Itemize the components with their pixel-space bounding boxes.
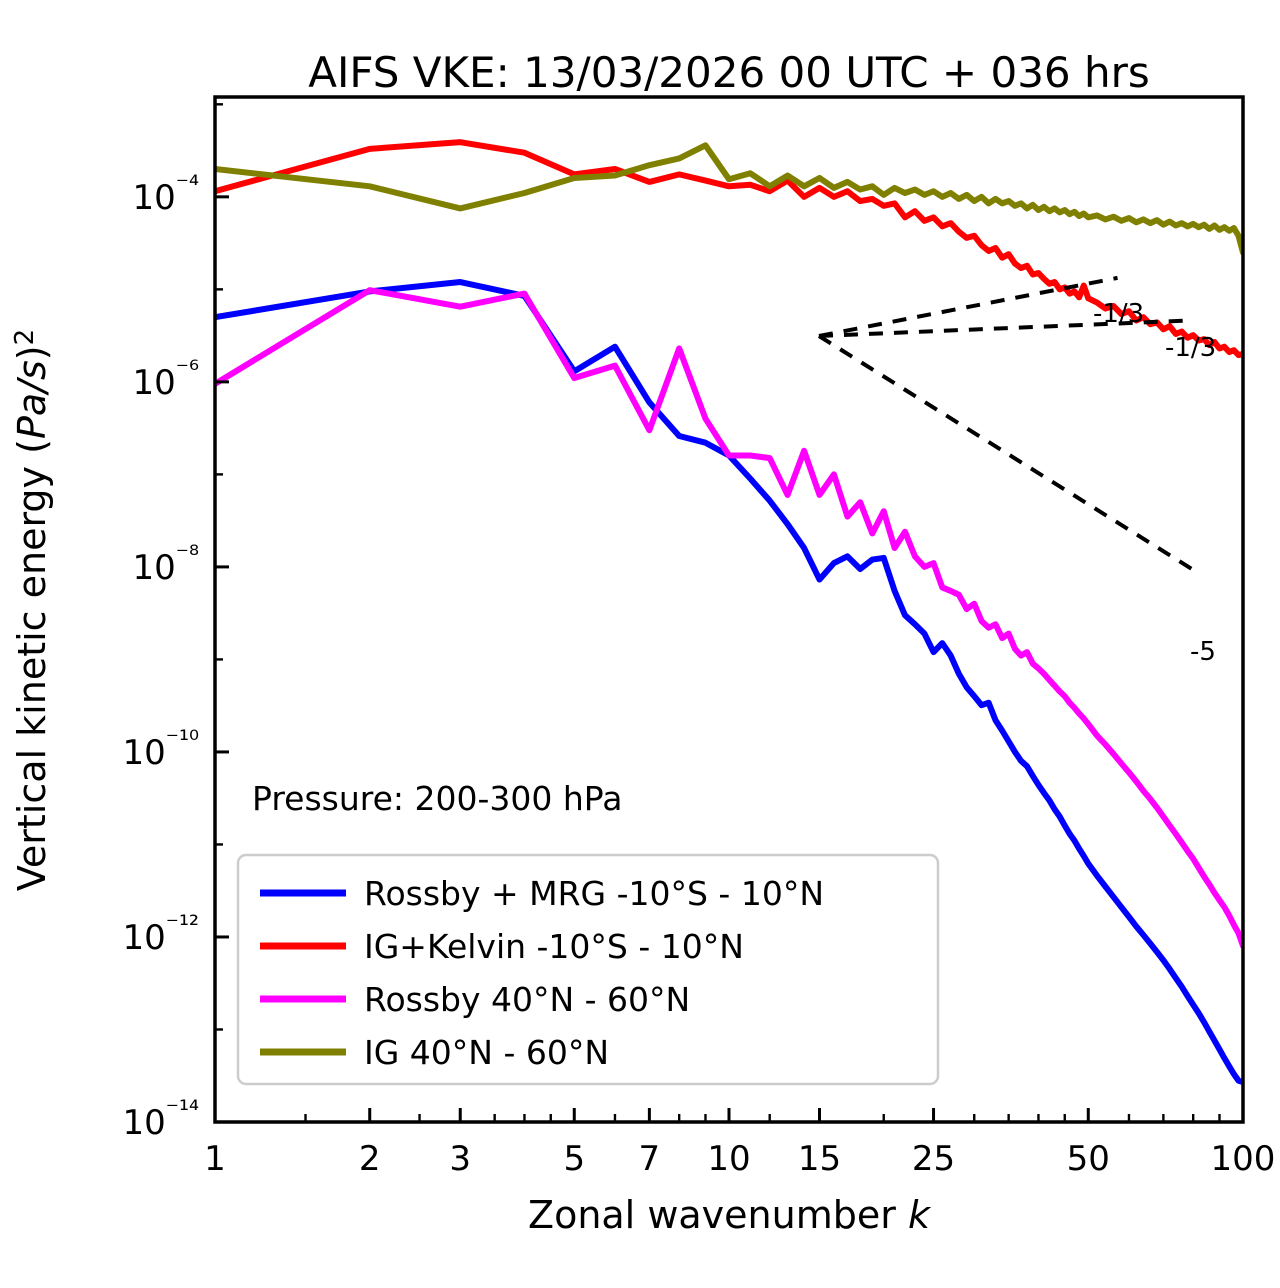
x-tick-label-10: 10 (707, 1139, 750, 1179)
legend-label-1[interactable]: IG+Kelvin -10°S - 10°N (364, 927, 744, 966)
svg-text:Vertical kinetic energy (Pa/s): Vertical kinetic energy (Pa/s)2 (10, 329, 54, 891)
x-axis-label: Zonal wavenumber k (528, 1193, 932, 1237)
x-tick-label-7: 7 (639, 1139, 661, 1179)
slope-label-minus5: -5 (1190, 637, 1216, 667)
x-tick-label-25: 25 (912, 1139, 955, 1179)
chart-legend[interactable]: Rossby + MRG -10°S - 10°NIG+Kelvin -10°S… (238, 855, 938, 1084)
chart-figure: AIFS VKE: 13/03/2026 00 UTC + 036 hrs Ve… (0, 0, 1280, 1288)
legend-label-2[interactable]: Rossby 40°N - 60°N (364, 980, 690, 1019)
x-tick-label-2: 2 (359, 1139, 381, 1179)
x-tick-label-1: 1 (204, 1139, 226, 1179)
slope-label-upper: -1/3 (1093, 299, 1144, 329)
y-axis-label: Vertical kinetic energy (Pa/s)2 (10, 329, 54, 891)
slope-label-lower: -1/3 (1165, 333, 1216, 363)
x-tick-label-15: 15 (798, 1139, 841, 1179)
legend-label-0[interactable]: Rossby + MRG -10°S - 10°N (364, 874, 824, 913)
x-tick-label-100: 100 (1211, 1139, 1276, 1179)
chart-title: AIFS VKE: 13/03/2026 00 UTC + 036 hrs (308, 48, 1150, 97)
x-tick-label-50: 50 (1067, 1139, 1110, 1179)
x-tick-label-3: 3 (449, 1139, 471, 1179)
vke-spectrum-chart: AIFS VKE: 13/03/2026 00 UTC + 036 hrs Ve… (0, 0, 1280, 1288)
pressure-annotation: Pressure: 200-300 hPa (252, 779, 622, 818)
legend-label-3[interactable]: IG 40°N - 60°N (364, 1033, 609, 1072)
x-tick-label-5: 5 (563, 1139, 585, 1179)
